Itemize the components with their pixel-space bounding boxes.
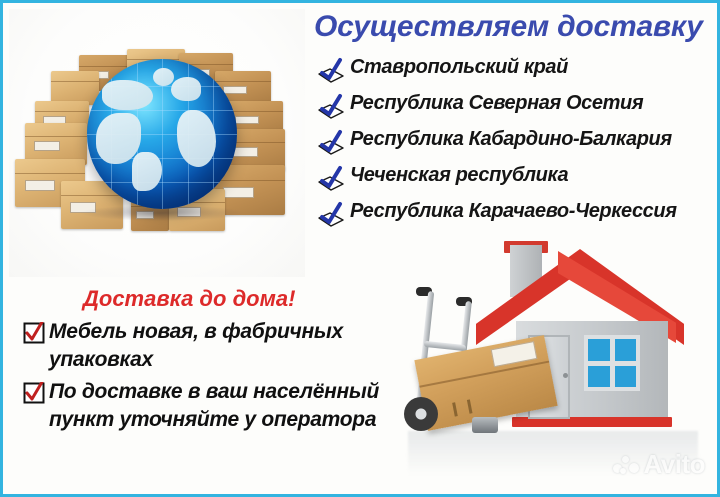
sub-title: Доставка до дома! (83, 286, 295, 312)
red-check-box-icon (23, 382, 45, 404)
list-item-label: По доставке в ваш населённый пункт уточн… (49, 378, 398, 434)
list-item: Республика Карачаево-Черкессия (316, 197, 720, 233)
blue-check-tray-icon (316, 165, 346, 193)
truck-wheel (404, 397, 438, 431)
house-window (584, 335, 640, 391)
blue-check-tray-icon (316, 201, 346, 229)
list-item-label: Мебель новая, в фабричных упаковках (49, 318, 398, 374)
blue-check-tray-icon (316, 93, 346, 121)
globe-icon (87, 59, 237, 209)
list-item-label: Республика Кабардино-Балкария (350, 128, 672, 151)
blue-check-tray-icon (316, 57, 346, 85)
list-item: Республика Кабардино-Балкария (316, 125, 720, 161)
list-item: Чеченская республика (316, 161, 720, 197)
list-item-label: Республика Карачаево-Черкессия (350, 200, 677, 223)
list-item-label: Республика Северная Осетия (350, 92, 643, 115)
list-item: По доставке в ваш населённый пункт уточн… (23, 378, 398, 434)
delivery-poster: Осуществляем доставку Ставропольский кра… (0, 0, 720, 497)
list-item-label: Чеченская республика (350, 164, 568, 187)
regions-list: Ставропольский край Республика Северная … (316, 53, 720, 233)
blue-check-tray-icon (316, 129, 346, 157)
promises-list: Мебель новая, в фабричных упаковках По д… (23, 318, 398, 438)
list-item-label: Ставропольский край (350, 56, 568, 79)
avito-watermark: Avito (613, 449, 705, 480)
list-item: Республика Северная Осетия (316, 89, 720, 125)
truck-rung (424, 341, 466, 351)
parcel-box (51, 71, 99, 105)
globe-with-parcel-boxes-image (9, 9, 305, 277)
truck-foot (472, 417, 498, 433)
avito-wordmark: Avito (643, 449, 705, 480)
list-item: Мебель новая, в фабричных упаковках (23, 318, 398, 374)
red-check-box-icon (23, 322, 45, 344)
door-knob-icon (563, 373, 568, 378)
list-item: Ставропольский край (316, 53, 720, 89)
page-title: Осуществляем доставку (314, 10, 714, 44)
avito-dots-logo (613, 454, 639, 476)
